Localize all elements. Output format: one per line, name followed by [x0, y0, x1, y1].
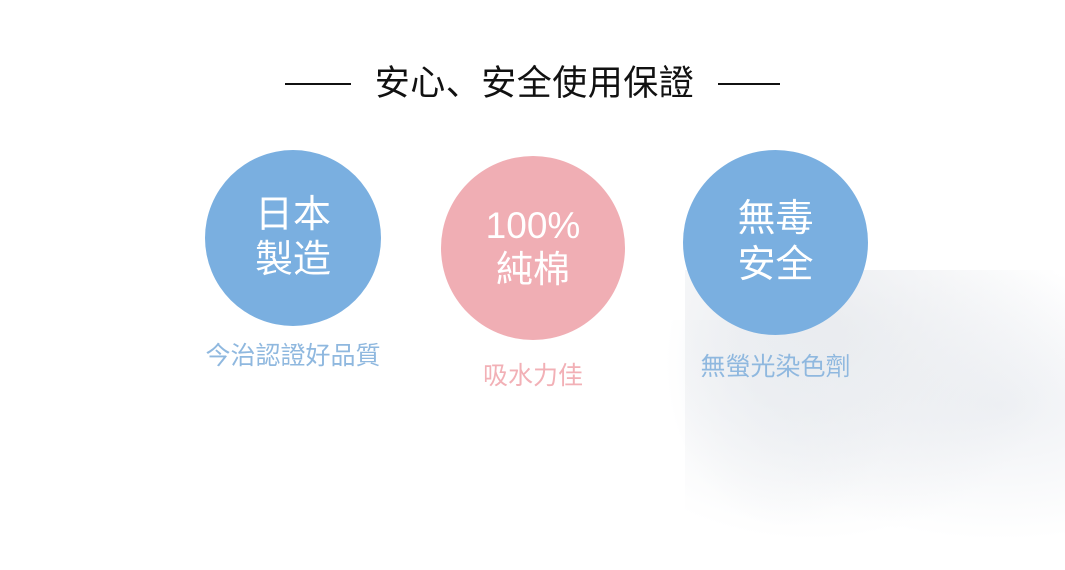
feature-caption-cotton: 吸水力佳 [441, 364, 625, 389]
feature-circle-nontoxic: 無毒 安全 [683, 150, 868, 335]
feature-nontoxic: 無毒 安全 無螢光染色劑 [683, 150, 868, 380]
promo-banner: 安心、安全使用保證 日本 製造 今治認證好品質 100% 純棉 吸水力佳 無毒 … [0, 0, 1065, 450]
feature-cotton: 100% 純棉 吸水力佳 [441, 156, 625, 389]
feature-circle-japan-made: 日本 製造 [205, 150, 381, 326]
feature-circle-line2: 製造 [255, 238, 331, 283]
feature-circle-line2: 安全 [737, 243, 813, 289]
feature-circle-line1: 無毒 [737, 197, 813, 243]
feature-circle-line1: 日本 [255, 193, 331, 238]
feature-circle-line2: 純棉 [496, 248, 570, 292]
feature-list: 日本 製造 今治認證好品質 100% 純棉 吸水力佳 無毒 安全 無螢光染色劑 [0, 0, 1065, 450]
feature-circle-line1: 100% [486, 204, 581, 248]
feature-circle-cotton: 100% 純棉 [441, 156, 625, 340]
feature-japan-made: 日本 製造 今治認證好品質 [205, 150, 381, 369]
feature-caption-japan-made: 今治認證好品質 [205, 344, 381, 369]
feature-caption-nontoxic: 無螢光染色劑 [683, 355, 868, 380]
